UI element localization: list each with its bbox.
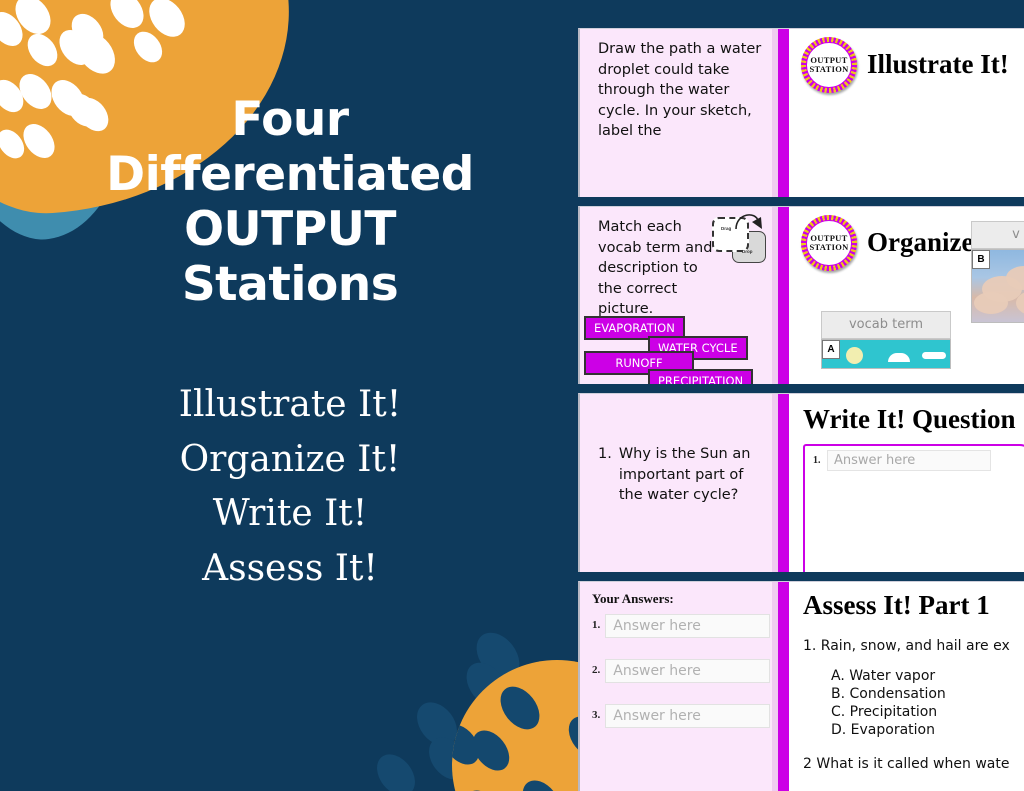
drag-label: Drag	[721, 226, 731, 231]
card-title-assess: Assess It! Part 1	[803, 590, 990, 621]
badge-line-2: STATION	[809, 64, 848, 74]
preview-card-stack: Draw the path a water droplet could take…	[578, 28, 1024, 791]
answer-row[interactable]: 3. Answer here	[592, 704, 770, 728]
card-prompt-text: Match each vocab term and description to…	[598, 217, 722, 320]
answer-row[interactable]: 1. Answer here	[592, 614, 770, 638]
card-prompt-panel: Your Answers: 1. Answer here 2. Answer h…	[580, 582, 778, 791]
prompt-number: 1.	[598, 444, 612, 506]
card-slide-panel: Assess It! Part 1 1. Rain, snow, and hai…	[778, 582, 1024, 791]
drag-drop-icon: Drag Drop	[710, 211, 772, 266]
assess-question-2: 2 What is it called when wate	[803, 756, 1009, 772]
card-slide-panel: OUTPUTSTATION Organize It! vocab term A …	[778, 207, 1024, 384]
station-list-item-illustrate: Illustrate It!	[60, 378, 520, 433]
title-line-3: OUTPUT	[60, 202, 520, 257]
card-title-illustrate: Illustrate It!	[867, 49, 1009, 80]
vocab-term-slot-b[interactable]: v	[971, 221, 1024, 249]
preview-card-illustrate[interactable]: Draw the path a water droplet could take…	[578, 28, 1024, 197]
preview-card-write[interactable]: 1. Why is the Sun an important part of t…	[578, 393, 1024, 572]
assess-option-d[interactable]: D. Evaporation	[831, 722, 935, 738]
card-title-write: Write It! Question	[803, 404, 1015, 435]
output-station-badge-icon: OUTPUTSTATION	[801, 215, 857, 271]
answer-input[interactable]: Answer here	[605, 659, 770, 683]
card-prompt-text: Draw the path a water droplet could take…	[598, 39, 768, 142]
card-slide-panel: Write It! Question 1. Answer here	[778, 394, 1024, 572]
answer-row-number: 3.	[592, 704, 600, 721]
card-slide-panel: OUTPUTSTATION Illustrate It!	[778, 29, 1024, 197]
card-prompt-panel: Draw the path a water droplet could take…	[580, 29, 778, 197]
picture-letter-b: B	[972, 250, 990, 269]
drop-label: Drop	[742, 249, 753, 254]
answer-row[interactable]: 2. Answer here	[592, 659, 770, 683]
answer-row-number: 1.	[592, 614, 600, 631]
station-list-item-organize: Organize It!	[60, 433, 520, 488]
picture-tile-a[interactable]: A	[821, 339, 951, 369]
answer-number: 1.	[813, 455, 821, 466]
answer-input[interactable]: Answer here	[605, 704, 770, 728]
vocab-chip[interactable]: PRECIPITATION	[648, 369, 753, 384]
vocab-chip-group: EVAPORATION WATER CYCLE RUNOFF PRECIPITA…	[582, 314, 786, 384]
assess-question-1: 1. Rain, snow, and hail are ex	[803, 638, 1010, 654]
picture-letter-a: A	[822, 340, 840, 359]
answer-input[interactable]: Answer here	[827, 450, 991, 471]
your-answers-heading: Your Answers:	[592, 591, 770, 607]
assess-option-c[interactable]: C. Precipitation	[831, 704, 937, 720]
card-prompt-panel: Match each vocab term and description to…	[580, 207, 778, 384]
slide-canvas: Four Differentiated OUTPUT Stations Illu…	[0, 0, 1024, 791]
preview-card-assess[interactable]: Your Answers: 1. Answer here 2. Answer h…	[578, 581, 1024, 791]
curved-arrow-icon	[734, 209, 764, 235]
preview-card-organize[interactable]: Match each vocab term and description to…	[578, 206, 1024, 384]
picture-tile-b[interactable]: B	[971, 249, 1024, 323]
output-station-badge-icon: OUTPUTSTATION	[801, 37, 857, 93]
title-line-2: Differentiated	[60, 147, 520, 202]
title-line-1: Four	[60, 92, 520, 147]
answer-input[interactable]: Answer here	[605, 614, 770, 638]
page-title: Four Differentiated OUTPUT Stations	[60, 92, 520, 312]
vocab-term-slot-a[interactable]: vocab term	[821, 311, 951, 339]
badge-line-2: STATION	[809, 242, 848, 252]
answer-row-number: 2.	[592, 659, 600, 676]
title-line-4: Stations	[60, 257, 520, 312]
station-list-item-write: Write It!	[60, 487, 520, 542]
station-list: Illustrate It! Organize It! Write It! As…	[60, 378, 520, 597]
assess-option-b[interactable]: B. Condensation	[831, 686, 946, 702]
assess-option-a[interactable]: A. Water vapor	[831, 668, 935, 684]
card-prompt-text: Why is the Sun an important part of the …	[619, 444, 768, 506]
answer-area[interactable]: 1. Answer here	[803, 444, 1024, 572]
station-list-item-assess: Assess It!	[60, 542, 520, 597]
card-prompt-panel: 1. Why is the Sun an important part of t…	[580, 394, 778, 572]
